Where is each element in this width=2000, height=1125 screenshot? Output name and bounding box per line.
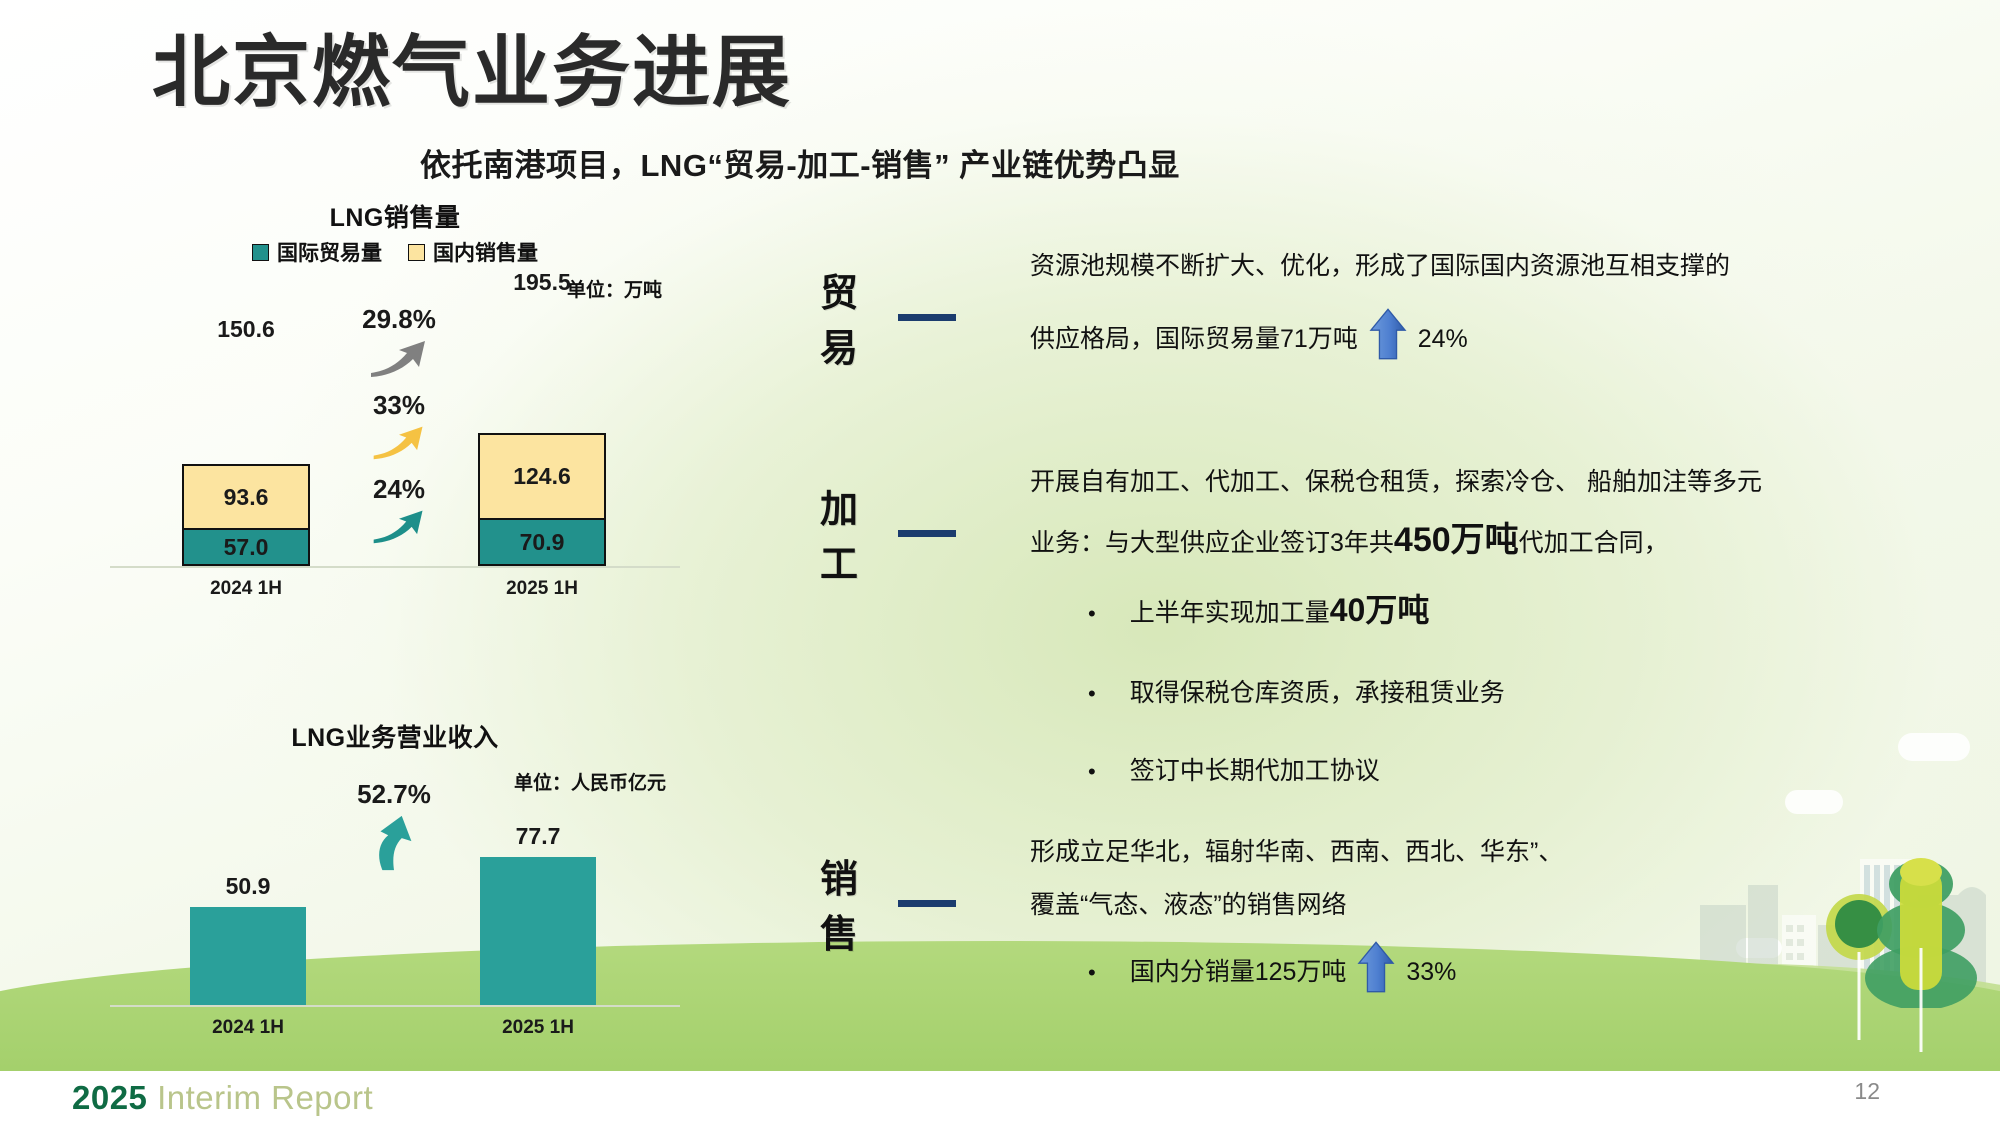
chart2-title: LNG业务营业收入: [110, 718, 680, 754]
chart2-bar-2024: 50.9: [190, 907, 306, 1005]
page-title: 北京燃气业务进展: [152, 33, 792, 111]
chart2-cat-2025: 2025 1H: [480, 1017, 596, 1039]
chart1-seg-domestic-2024: 93.6: [182, 464, 310, 528]
bullet-dot-icon: •: [1088, 962, 1096, 984]
section-trade-line-2-post: 24%: [1418, 325, 1468, 353]
chart2-cat-2024: 2024 1H: [190, 1017, 306, 1039]
footer-year: 2025: [72, 1079, 147, 1116]
section-sales-line-1: 形成立足华北，辐射华南、西南、西北、华东”、: [1030, 840, 2000, 865]
chart1-plot-area: 150.6 93.6 57.0 2024 1H 195.5 124.6 70.9…: [110, 338, 680, 568]
bullet-3-text: 签订中长期代加工协议: [1130, 751, 1380, 787]
page-number: 12: [1854, 1078, 1880, 1105]
bullet-dot-icon: •: [1088, 603, 1096, 625]
section-processing-line-2-post: 代加工合同，: [1519, 529, 1669, 557]
section-trade-line-2: 供应格局，国际贸易量71万吨 24%: [1030, 307, 2000, 361]
chart-lng-revenue: LNG业务营业收入 单位：人民币亿元 50.9 2024 1H 77.7 202…: [110, 718, 680, 1007]
section-trade-name: 贸易: [820, 262, 880, 372]
bullet-1-emphasis: 40万吨: [1330, 592, 1430, 628]
section-trade-head: 贸易: [820, 262, 956, 372]
chart-lng-sales-volume: LNG销售量 国际贸易量 国内销售量 单位：万吨 150.6 93.6 57.0…: [110, 198, 680, 568]
list-item: • 取得保税仓库资质，承接租赁业务: [1030, 673, 2000, 709]
section-sales-head: 销售: [820, 848, 956, 958]
sales-bullet-pre: 国内分销量125万吨: [1130, 958, 1347, 986]
section-processing-rule: [898, 530, 956, 537]
legend-label-intl: 国际贸易量: [277, 237, 382, 267]
section-processing-line-2-pre: 业务：与大型供应企业签订3年共: [1030, 529, 1394, 557]
page-subtitle: 依托南港项目，LNG“贸易-加工-销售” 产业链优势凸显: [420, 140, 1180, 185]
chart1-cat-2025: 2025 1H: [478, 578, 606, 600]
growth-arrow-gray-icon: [368, 337, 430, 379]
bullet-dot-icon: •: [1088, 761, 1096, 783]
up-arrow-blue-icon: [1369, 307, 1407, 361]
growth-arrow-teal-icon: [371, 507, 427, 545]
legend-item-domestic: 国内销售量: [408, 237, 538, 267]
section-trade-line-2-pre: 供应格局，国际贸易量71万吨: [1030, 325, 1358, 353]
slide-canvas: 北京燃气业务进展 依托南港项目，LNG“贸易-加工-销售” 产业链优势凸显 LN…: [0, 0, 2000, 1125]
footer-report-label: Interim Report: [157, 1079, 373, 1116]
growth-arrow-up-teal-icon: [368, 814, 420, 872]
chart2-plot-area: 50.9 2024 1H 77.7 2025 1H 52.7%: [110, 847, 680, 1007]
chart2-seg-2024: [190, 907, 306, 1005]
legend-swatch-intl: [252, 244, 269, 261]
chart1-growth-intl: 24%: [324, 474, 474, 550]
section-processing-line-2: 业务：与大型供应企业签订3年共450万吨代加工合同，: [1030, 523, 2000, 557]
list-item: • 签订中长期代加工协议: [1030, 751, 2000, 787]
chart2-total-2025: 77.7: [480, 823, 596, 850]
bullet-2-text: 取得保税仓库资质，承接租赁业务: [1130, 673, 1505, 709]
sales-bullet-post: 33%: [1406, 958, 1456, 986]
chart1-cat-2024: 2024 1H: [182, 578, 310, 600]
chart1-seg-intl-2024: 57.0: [182, 528, 310, 566]
section-trade-rule: [898, 314, 956, 321]
chart1-growth-intl-label: 24%: [324, 474, 474, 505]
section-sales-line-2: 覆盖“气态、液态”的销售网络: [1030, 893, 2000, 918]
up-arrow-blue-icon: [1357, 940, 1395, 994]
chart2-growth: 52.7%: [314, 779, 474, 877]
chart1-growth-total-label: 29.8%: [324, 304, 474, 335]
chart2-bar-2025: 77.7: [480, 857, 596, 1005]
section-sales-name: 销售: [820, 848, 880, 958]
chart1-total-2024: 150.6: [182, 316, 310, 343]
section-processing-line-1: 开展自有加工、代加工、保税仓租赁，探索冷仓、 船舶加注等多元: [1030, 470, 2000, 495]
chart2-seg-2025: [480, 857, 596, 1005]
bullet-dot-icon: •: [1088, 683, 1096, 705]
growth-arrow-yellow-icon: [371, 423, 427, 461]
legend-swatch-domestic: [408, 244, 425, 261]
legend-item-intl: 国际贸易量: [252, 237, 382, 267]
section-trade-body: 资源池规模不断扩大、优化，形成了国际国内资源池互相支撑的 供应格局，国际贸易量7…: [1030, 254, 2000, 389]
chart1-title: LNG销售量: [110, 198, 680, 234]
chart1-bar-2024: 150.6 93.6 57.0: [182, 464, 310, 566]
section-sales-body: 形成立足华北，辐射华南、西南、西北、华东”、 覆盖“气态、液态”的销售网络 • …: [1030, 840, 2000, 1036]
section-processing-line-2-emphasis: 450万吨: [1394, 521, 1519, 559]
chart1-growth-total: 29.8%: [324, 304, 474, 384]
chart1-seg-intl-2025: 70.9: [478, 518, 606, 566]
chart1-axis: [110, 566, 680, 568]
chart1-total-2025: 195.5: [478, 269, 606, 296]
section-processing-name: 加工: [820, 478, 880, 588]
section-processing-bullets: • 上半年实现加工量40万吨 • 取得保税仓库资质，承接租赁业务 • 签订中长期…: [1030, 585, 2000, 787]
chart1-growth-domestic: 33%: [324, 390, 474, 466]
list-item: • 国内分销量125万吨 33%: [1030, 940, 2000, 994]
chart1-legend: 国际贸易量 国内销售量: [110, 237, 680, 267]
chart1-growth-domestic-label: 33%: [324, 390, 474, 421]
chart2-axis: [110, 1005, 680, 1007]
chart2-growth-label: 52.7%: [314, 779, 474, 810]
section-trade-line-1: 资源池规模不断扩大、优化，形成了国际国内资源池互相支撑的: [1030, 254, 2000, 279]
chart1-seg-domestic-2025: 124.6: [478, 433, 606, 518]
footer-logo: 2025 Interim Report: [72, 1079, 373, 1117]
section-processing-head: 加工: [820, 478, 956, 588]
legend-label-domestic: 国内销售量: [433, 237, 538, 267]
chart1-bar-2025: 195.5 124.6 70.9: [478, 433, 606, 566]
list-item: • 上半年实现加工量40万吨: [1030, 585, 2000, 631]
chart2-total-2024: 50.9: [190, 873, 306, 900]
section-processing-body: 开展自有加工、代加工、保税仓租赁，探索冷仓、 船舶加注等多元 业务：与大型供应企…: [1030, 470, 2000, 829]
section-sales-bullets: • 国内分销量125万吨 33%: [1030, 940, 2000, 994]
bullet-1-pre: 上半年实现加工量: [1130, 599, 1330, 627]
section-sales-rule: [898, 900, 956, 907]
